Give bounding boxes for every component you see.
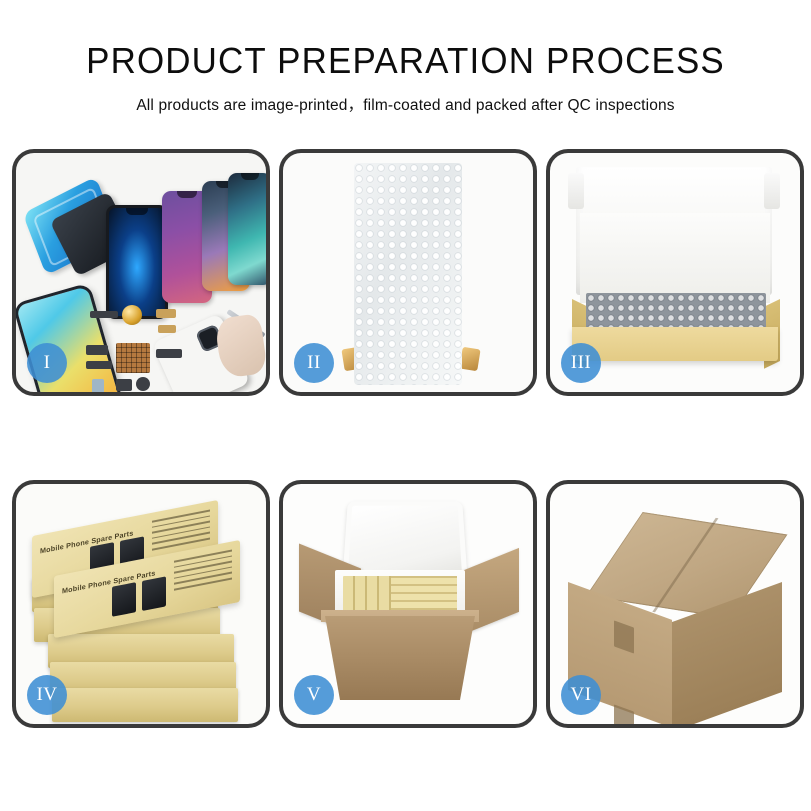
process-step-card-1[interactable]: I: [12, 149, 270, 396]
process-step-card-5[interactable]: V: [279, 480, 537, 728]
box-spec-lines-lower: [174, 549, 232, 602]
process-step-card-4[interactable]: Mobile Phone Spare Parts Mobile Phone Sp…: [12, 480, 270, 728]
process-step-grid: I II III: [12, 149, 799, 728]
box-art-screen-b1: [112, 582, 136, 617]
small-part-3: [158, 325, 176, 333]
foam-sheet: [580, 213, 770, 303]
process-step-card-6[interactable]: VI: [546, 480, 804, 728]
phone-display-teal: [228, 173, 266, 285]
process-step-card-2[interactable]: II: [279, 149, 537, 396]
step-badge-2: II: [294, 343, 334, 383]
small-part-9: [92, 379, 104, 392]
step-badge-3: III: [561, 343, 601, 383]
small-part-2: [156, 309, 176, 318]
phone-display-cracked: [106, 205, 168, 319]
page-header: PRODUCT PREPARATION PROCESS All products…: [0, 0, 811, 115]
connector-grid-part: [116, 343, 150, 373]
stacked-box-1: [52, 688, 238, 722]
bubble-wrap-layer: [586, 293, 766, 329]
process-step-card-3[interactable]: III: [546, 149, 804, 396]
small-part-7: [116, 379, 132, 391]
shipping-carton: [568, 512, 786, 702]
box-art-screen-b2: [142, 576, 166, 611]
step-badge-6: VI: [561, 675, 601, 715]
page-subtitle: All products are image-printed，film-coat…: [0, 93, 811, 115]
small-part-4: [86, 345, 108, 355]
carton-body: [325, 616, 475, 700]
small-part-8: [136, 377, 150, 391]
step-badge-5: V: [294, 675, 334, 715]
small-part-6: [156, 349, 182, 358]
gold-tab-right: [459, 347, 480, 372]
step-badge-1: I: [27, 343, 67, 383]
step-badge-4: IV: [27, 675, 67, 715]
bubble-wrap-bag: [354, 163, 462, 385]
gold-component-icon: [122, 305, 142, 325]
small-part-5: [86, 361, 112, 369]
kraft-tray-front: [572, 327, 778, 361]
page-title: PRODUCT PREPARATION PROCESS: [12, 42, 799, 80]
small-part-1: [90, 311, 118, 318]
